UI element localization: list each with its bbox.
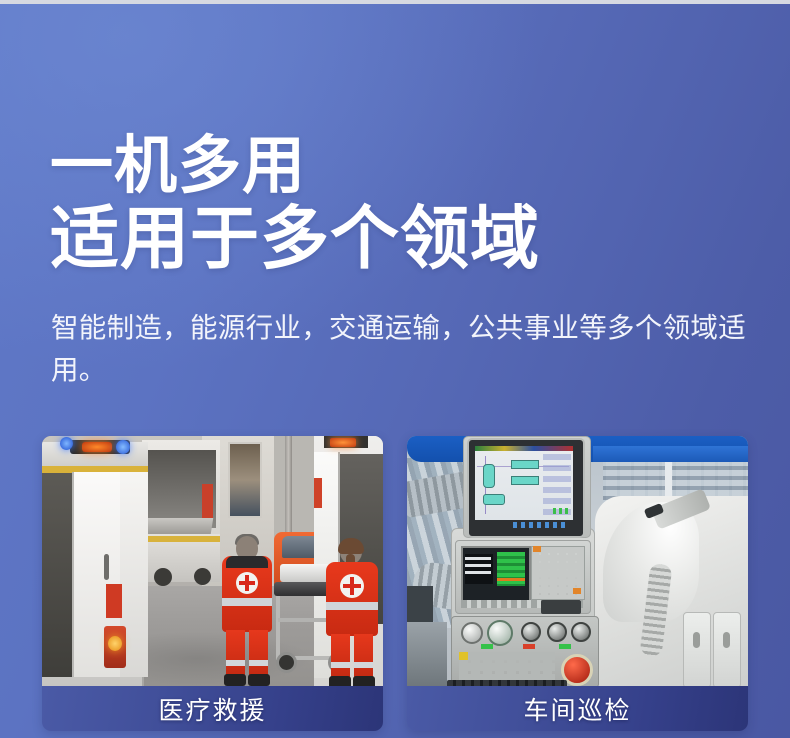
page-title: 一机多用 适用于多个领域 (50, 128, 540, 278)
promo-banner: 一机多用 适用于多个领域 智能制造，能源行业，交通运输，公共事业等多个领域适用。 (0, 0, 790, 738)
top-edge-strip (0, 0, 790, 4)
card-caption-medical-rescue: 医疗救援 (42, 686, 383, 731)
use-case-card-list: 医疗救援 (42, 436, 748, 731)
use-case-card-workshop-inspection[interactable]: 车间巡检 (407, 436, 748, 731)
subtitle-text: 智能制造，能源行业，交通运输，公共事业等多个领域适用。 (51, 307, 759, 391)
card-caption-workshop-inspection: 车间巡检 (407, 686, 748, 731)
headline-line-1: 一机多用 (50, 128, 540, 204)
medical-rescue-photo (42, 436, 383, 686)
use-case-card-medical-rescue[interactable]: 医疗救援 (42, 436, 383, 731)
headline-line-2: 适用于多个领域 (50, 200, 540, 278)
workshop-inspection-photo (407, 436, 748, 686)
